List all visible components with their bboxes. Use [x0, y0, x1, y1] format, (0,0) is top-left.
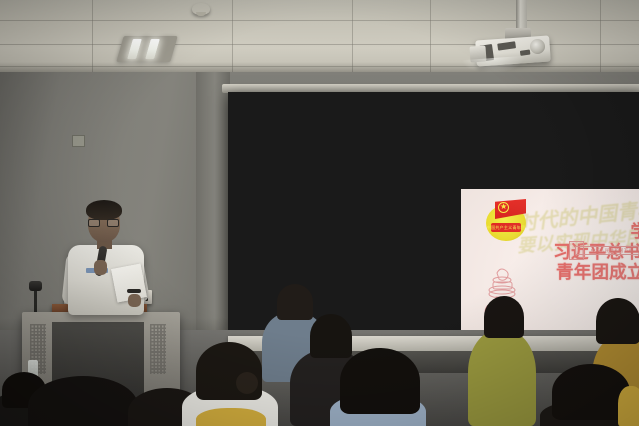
audience-woman-blue-check-head [340, 348, 420, 414]
slide-title-block: 学生骨干领学 习近平总书记在庆祝中国共产主义 青年团成立100周年大会上的重要 … [517, 222, 639, 302]
audience-woman-olive-top-head [484, 296, 524, 338]
wall-outlet-plate [72, 135, 85, 147]
wristwatch [127, 289, 141, 293]
speaker-hand-holding-mic [94, 260, 107, 275]
audience-woman-olive-top-body [468, 330, 536, 426]
tiananmen-banner-left: 中华人民共和国万岁 [575, 246, 639, 255]
projector-pole [516, 0, 527, 31]
podium-microphone-icon [29, 281, 42, 291]
gate-portrait-frame [569, 241, 584, 260]
audience-woman-mustard-top-head [596, 298, 639, 344]
audience-right-yellow-sliver [618, 386, 639, 426]
podium-speaker-grille-right [150, 324, 166, 374]
slide-title-line-3: 青年团成立100周年大会上的重要 [517, 262, 639, 282]
speaker-hair [86, 200, 122, 220]
audience-woman-yellow-top-body [196, 408, 266, 426]
slide-title-line-1: 学生骨干领学 [517, 222, 639, 242]
speaker-glasses-icon [88, 219, 120, 227]
lecture-hall-photo: 新时代的中国青年 要以实现中华民族 伟大复兴为己任 中国共产主义青年团 资源与化… [0, 0, 639, 426]
speaker-person [58, 198, 154, 328]
audience-woman-dark-top-head [310, 314, 352, 358]
audience-ponytail-bun [236, 372, 258, 394]
fluorescent-light-panel [116, 36, 177, 62]
audience-man-blue-shirt-head [277, 284, 313, 320]
smoke-detector-icon [192, 3, 210, 15]
speaker-hand-holding-papers [128, 294, 141, 307]
